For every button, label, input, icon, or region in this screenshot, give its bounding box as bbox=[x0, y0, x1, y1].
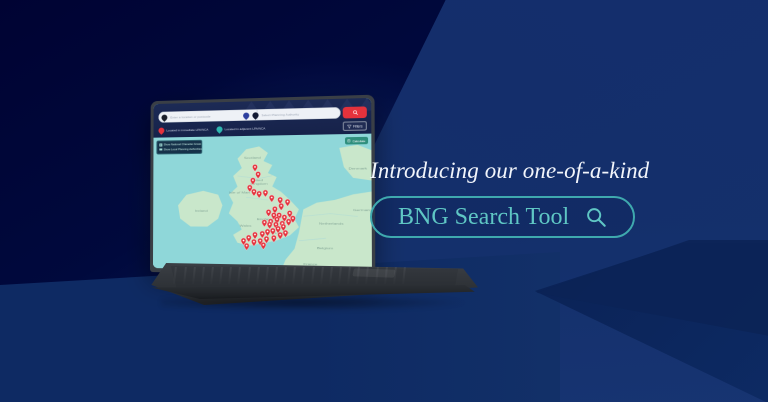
laptop-base bbox=[148, 263, 478, 305]
checkbox-icon[interactable] bbox=[159, 144, 162, 147]
filters-button[interactable]: Filters bbox=[343, 121, 367, 131]
app-screen: Enter a location or postcode Select Plan… bbox=[153, 98, 372, 272]
authority-pin-icon bbox=[251, 111, 260, 120]
map-pin[interactable] bbox=[260, 242, 265, 249]
cta-label: BNG Search Tool bbox=[398, 204, 569, 231]
laptop-shadow bbox=[161, 297, 465, 311]
legend-item-adjacent: Located in adjacent LPA/NCA bbox=[216, 125, 265, 132]
map-pin[interactable] bbox=[284, 199, 289, 206]
map-pin[interactable] bbox=[253, 164, 258, 171]
legend-label: Located in immediate LPA/NCA bbox=[166, 128, 208, 133]
search-button[interactable] bbox=[343, 106, 367, 118]
svg-text:Scotland: Scotland bbox=[244, 156, 261, 159]
promo-banner: Enter a location or postcode Select Plan… bbox=[0, 0, 768, 402]
map-pin[interactable] bbox=[244, 244, 249, 251]
location-input[interactable]: Enter a location or postcode bbox=[170, 114, 210, 119]
app-header: Enter a location or postcode Select Plan… bbox=[154, 98, 372, 138]
search-row: Enter a location or postcode Select Plan… bbox=[158, 106, 366, 122]
bng-search-tool-button[interactable]: BNG Search Tool bbox=[370, 196, 635, 238]
svg-text:Denmark: Denmark bbox=[348, 167, 367, 170]
search-icon bbox=[352, 110, 358, 115]
map-pin[interactable] bbox=[250, 177, 255, 184]
map-pin[interactable] bbox=[283, 230, 288, 237]
map-pin[interactable] bbox=[269, 195, 274, 202]
layer-label: Show Local Planning Authorities bbox=[164, 147, 202, 151]
checkbox-icon[interactable] bbox=[159, 148, 162, 151]
map-pin[interactable] bbox=[271, 235, 276, 242]
map-pin[interactable] bbox=[257, 191, 262, 198]
laptop-screen-bezel: Enter a location or postcode Select Plan… bbox=[150, 95, 375, 277]
map-canvas[interactable]: Scotland UnitedKingdom Isle of Man Irela… bbox=[153, 134, 372, 272]
location-pin-icon bbox=[160, 113, 168, 121]
headline: Introducing our one-of-a-kind bbox=[370, 158, 670, 184]
red-pin-icon bbox=[157, 126, 165, 134]
search-input-group[interactable]: Enter a location or postcode Select Plan… bbox=[158, 107, 340, 123]
teal-pin-icon bbox=[215, 125, 224, 134]
layer-label: Show National Character Areas bbox=[164, 143, 201, 147]
map-layers-panel[interactable]: Show National Character Areas Show Local… bbox=[156, 140, 202, 154]
authority-input[interactable]: Select Planning Authority bbox=[261, 111, 337, 117]
map-pin[interactable] bbox=[262, 190, 267, 197]
map-pin[interactable] bbox=[278, 232, 283, 239]
map-pin[interactable] bbox=[266, 209, 271, 216]
authority-pin-icon-blue bbox=[241, 111, 250, 120]
svg-text:Belgium: Belgium bbox=[317, 247, 334, 250]
map-pin[interactable] bbox=[246, 235, 251, 242]
map-pin[interactable] bbox=[256, 172, 261, 179]
calculator-icon bbox=[348, 139, 351, 142]
layer-toggle-national-character-areas[interactable]: Show National Character Areas bbox=[159, 143, 199, 147]
filters-label: Filters bbox=[353, 124, 363, 128]
map-pin[interactable] bbox=[261, 219, 266, 226]
legend-row: Located in immediate LPA/NCA Located in … bbox=[158, 122, 366, 134]
filter-icon bbox=[347, 124, 351, 128]
map-pin[interactable] bbox=[252, 189, 257, 196]
svg-text:Ireland: Ireland bbox=[195, 210, 208, 213]
svg-text:Wales: Wales bbox=[240, 224, 252, 227]
laptop-trackpad bbox=[352, 268, 395, 277]
map-pin[interactable] bbox=[252, 239, 257, 246]
map-pin[interactable] bbox=[270, 228, 275, 235]
svg-text:Netherlands: Netherlands bbox=[319, 222, 344, 225]
map-pin[interactable] bbox=[265, 229, 270, 236]
map-pin[interactable] bbox=[279, 203, 284, 210]
map-pin[interactable] bbox=[290, 216, 295, 223]
promo-copy: Introducing our one-of-a-kind BNG Search… bbox=[370, 158, 670, 238]
search-icon bbox=[585, 206, 607, 228]
legend-label: Located in adjacent LPA/NCA bbox=[225, 126, 266, 131]
layer-toggle-local-planning-authorities[interactable]: Show Local Planning Authorities bbox=[159, 147, 199, 151]
calculate-label: Calculate bbox=[352, 138, 365, 142]
legend-item-immediate: Located in immediate LPA/NCA bbox=[158, 127, 208, 134]
map-geometry: Scotland UnitedKingdom Isle of Man Irela… bbox=[153, 134, 372, 272]
calculate-button[interactable]: Calculate bbox=[345, 137, 368, 145]
